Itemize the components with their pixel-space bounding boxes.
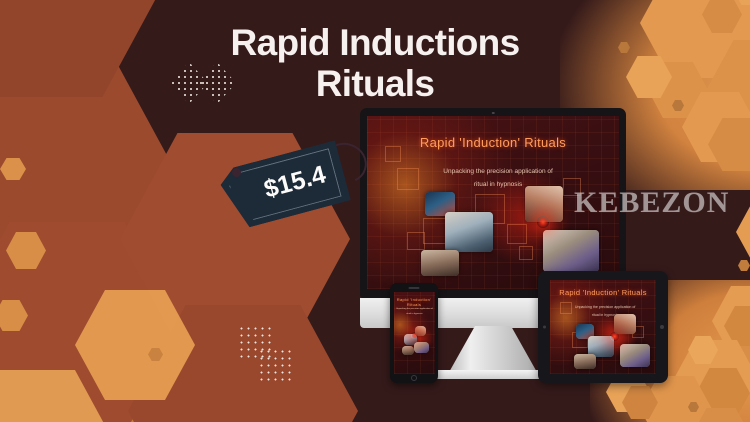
slide-photo bbox=[445, 212, 493, 252]
slide-photo bbox=[620, 344, 650, 367]
product-slide-tablet: Rapid 'Induction' Rituals Unpacking the … bbox=[550, 280, 656, 374]
slide-title: Rapid 'Induction' Rituals bbox=[550, 288, 656, 297]
promo-banner: Rapid Inductions Rituals bbox=[0, 0, 750, 422]
phone-home-button[interactable] bbox=[411, 375, 417, 381]
slide-photo bbox=[614, 314, 636, 334]
monitor-stand-foot bbox=[434, 370, 552, 379]
slide-photo bbox=[421, 250, 459, 276]
tablet-camera-icon bbox=[543, 326, 546, 329]
red-glow-accent bbox=[610, 332, 619, 341]
price-tag: $15.4 bbox=[215, 135, 395, 235]
phone-speaker-icon bbox=[409, 287, 420, 289]
title-line-2: Rituals bbox=[0, 63, 750, 104]
slide-title: Rapid 'Induction' Rituals bbox=[367, 135, 619, 150]
tablet-bezel: Rapid 'Induction' Rituals Unpacking the … bbox=[538, 271, 668, 383]
slide-title: Rapid 'Induction' Rituals bbox=[394, 297, 435, 307]
slide-photo bbox=[574, 354, 596, 369]
slide-subtitle: Unpacking the precision application of r… bbox=[396, 307, 433, 317]
watermark-logo: KEBEZON bbox=[574, 186, 729, 220]
smartphone-device: Rapid 'Induction' Rituals Unpacking the … bbox=[390, 283, 438, 383]
square-dot-pattern bbox=[258, 348, 292, 382]
phone-screen: Rapid 'Induction' Rituals Unpacking the … bbox=[394, 292, 435, 374]
decor-square bbox=[519, 246, 533, 260]
decor-square bbox=[507, 224, 527, 244]
red-glow-accent bbox=[411, 332, 418, 339]
slide-photo bbox=[414, 342, 429, 353]
product-slide-phone: Rapid 'Induction' Rituals Unpacking the … bbox=[394, 292, 435, 374]
slide-subtitle-line-1: Unpacking the precision application of bbox=[396, 308, 433, 310]
device-mockup-group: Rapid 'Induction' Rituals Unpacking the … bbox=[340, 108, 740, 398]
title-line-1: Rapid Inductions bbox=[231, 22, 520, 63]
webcam-icon bbox=[492, 112, 495, 115]
slide-subtitle-line-2: ritual in hypnosis bbox=[406, 313, 422, 315]
slide-photo bbox=[543, 230, 599, 272]
decor-square bbox=[407, 232, 425, 250]
tablet-device: Rapid 'Induction' Rituals Unpacking the … bbox=[538, 271, 668, 383]
monitor-stand-neck bbox=[448, 326, 538, 374]
red-glow-accent bbox=[537, 216, 549, 228]
tablet-home-button[interactable] bbox=[660, 325, 664, 329]
slide-photo bbox=[402, 346, 414, 355]
slide-subtitle-line-1: Unpacking the precision application of bbox=[443, 168, 552, 175]
slide-subtitle-line-1: Unpacking the precision application of bbox=[575, 305, 636, 309]
page-title: Rapid Inductions Rituals bbox=[0, 22, 750, 105]
tablet-screen: Rapid 'Induction' Rituals Unpacking the … bbox=[550, 280, 656, 374]
slide-subtitle: Unpacking the precision application of r… bbox=[402, 166, 594, 191]
phone-bezel: Rapid 'Induction' Rituals Unpacking the … bbox=[390, 283, 438, 383]
slide-subtitle-line-2: ritual in hypnosis bbox=[474, 181, 522, 188]
